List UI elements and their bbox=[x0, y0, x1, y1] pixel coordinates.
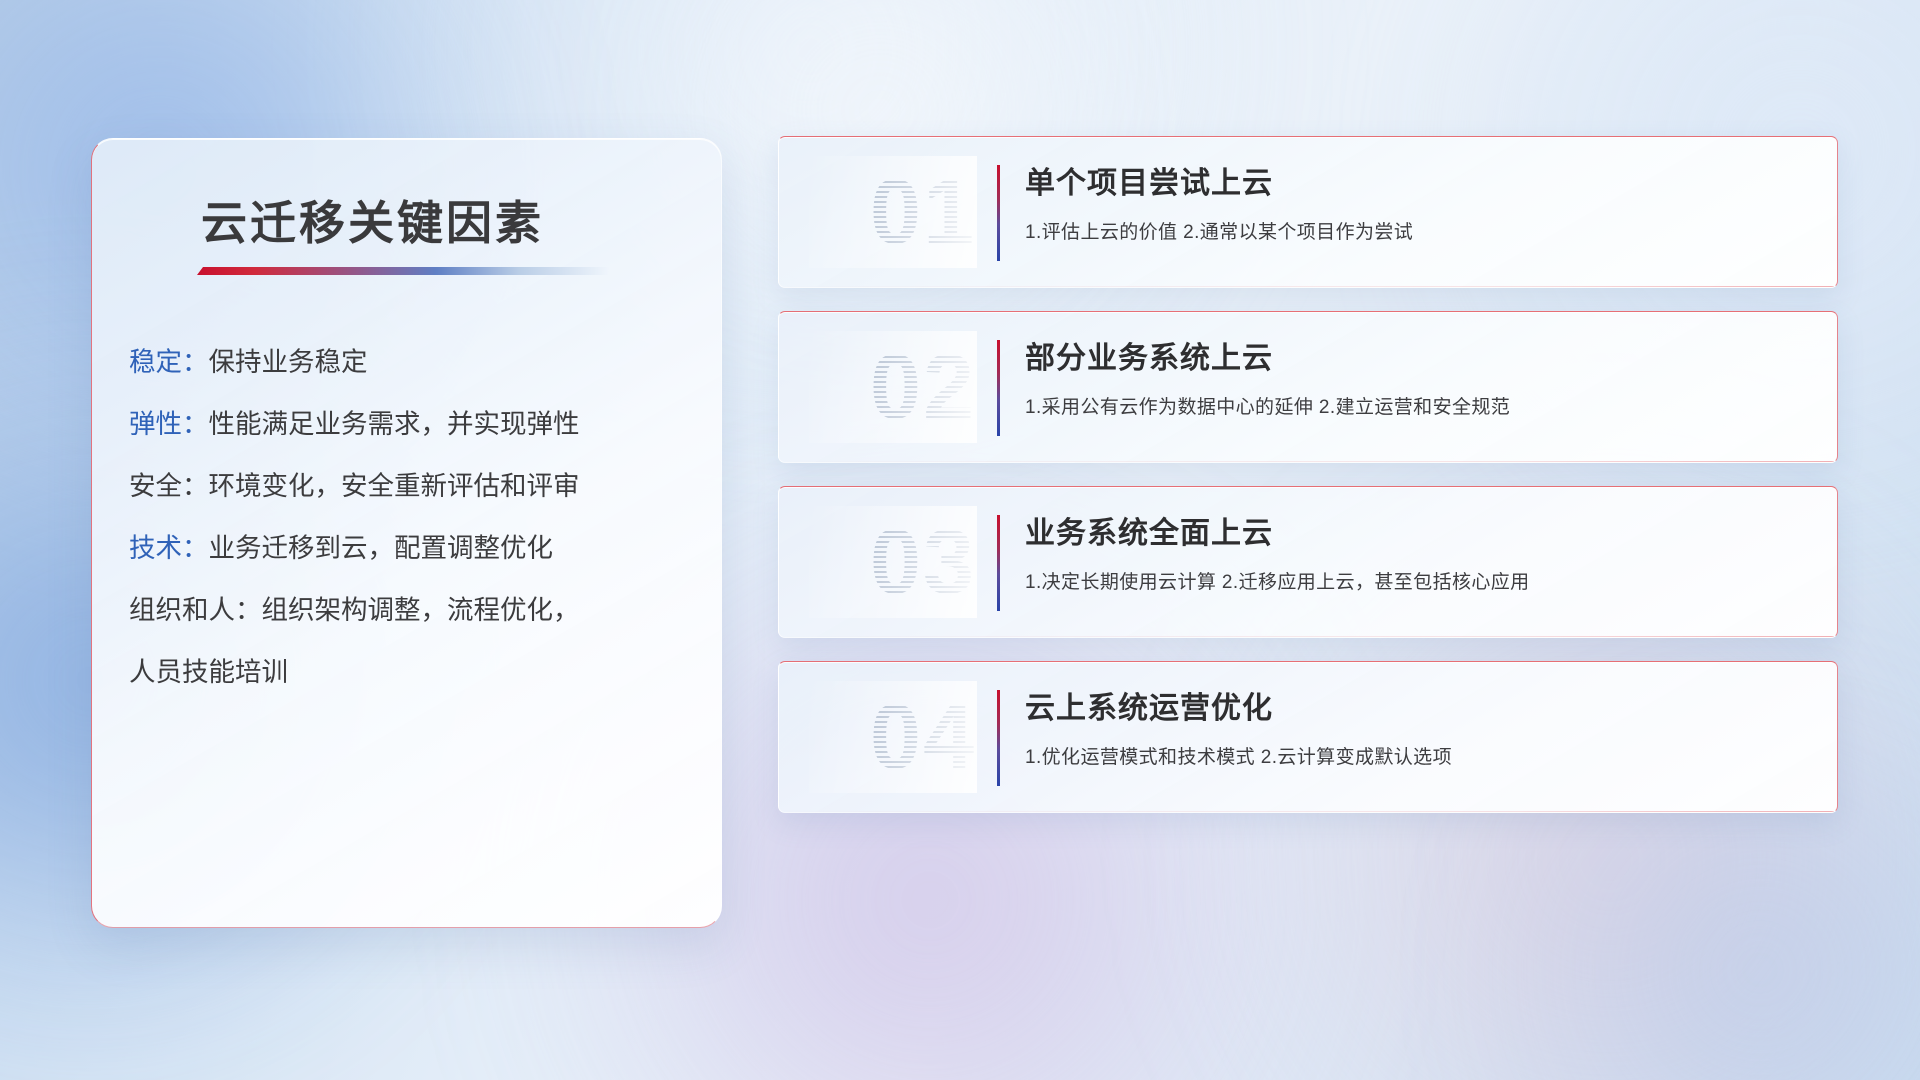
step-number: 02 bbox=[839, 331, 1007, 443]
slide-stage: 云迁移关键因素 稳定：保持业务稳定弹性：性能满足业务需求，并实现弹性安全：环境变… bbox=[0, 0, 1920, 1080]
step-number-watermark: 01 bbox=[809, 156, 977, 268]
migration-steps-list: 01单个项目尝试上云1.评估上云的价值 2.通常以某个项目作为尝试02部分业务系… bbox=[778, 136, 1838, 836]
step-description: 1.评估上云的价值 2.通常以某个项目作为尝试 bbox=[1025, 217, 1811, 244]
step-number: 03 bbox=[839, 506, 1007, 618]
step-divider-accent bbox=[997, 515, 1000, 611]
step-number-watermark: 02 bbox=[809, 331, 977, 443]
factor-label: 安全： bbox=[129, 473, 209, 500]
step-title: 单个项目尝试上云 bbox=[1025, 165, 1811, 203]
step-divider-accent bbox=[997, 340, 1000, 436]
factor-label: 弹性： bbox=[129, 411, 209, 438]
step-card[interactable]: 03业务系统全面上云1.决定长期使用云计算 2.迁移应用上云，甚至包括核心应用 bbox=[778, 486, 1838, 638]
factor-text: 环境变化，安全重新评估和评审 bbox=[209, 473, 580, 500]
factor-label: 稳定： bbox=[129, 349, 209, 376]
step-body: 业务系统全面上云1.决定长期使用云计算 2.迁移应用上云，甚至包括核心应用 bbox=[1025, 515, 1811, 594]
factor-label: 技术： bbox=[129, 535, 209, 562]
step-description: 1.决定长期使用云计算 2.迁移应用上云，甚至包括核心应用 bbox=[1025, 567, 1811, 594]
factor-list: 稳定：保持业务稳定弹性：性能满足业务需求，并实现弹性安全：环境变化，安全重新评估… bbox=[129, 331, 701, 703]
step-description: 1.采用公有云作为数据中心的延伸 2.建立运营和安全规范 bbox=[1025, 392, 1811, 419]
factor-row: 人员技能培训 bbox=[129, 641, 701, 703]
factor-text: 性能满足业务需求，并实现弹性 bbox=[209, 411, 580, 438]
factor-row: 技术：业务迁移到云，配置调整优化 bbox=[129, 517, 701, 579]
title-underline-accent bbox=[197, 267, 609, 275]
step-divider-accent bbox=[997, 690, 1000, 786]
step-title: 部分业务系统上云 bbox=[1025, 340, 1811, 378]
step-number: 04 bbox=[839, 681, 1007, 793]
step-card[interactable]: 04云上系统运营优化1.优化运营模式和技术模式 2.云计算变成默认选项 bbox=[778, 661, 1838, 813]
step-title: 业务系统全面上云 bbox=[1025, 515, 1811, 553]
step-divider-accent bbox=[997, 165, 1000, 261]
factor-text: 人员技能培训 bbox=[129, 659, 288, 686]
step-body: 单个项目尝试上云1.评估上云的价值 2.通常以某个项目作为尝试 bbox=[1025, 165, 1811, 244]
page-title: 云迁移关键因素 bbox=[201, 187, 544, 253]
step-number-watermark: 04 bbox=[809, 681, 977, 793]
step-number-watermark: 03 bbox=[809, 506, 977, 618]
factor-label: 组织和人： bbox=[129, 597, 262, 624]
step-number: 01 bbox=[839, 156, 1007, 268]
step-description: 1.优化运营模式和技术模式 2.云计算变成默认选项 bbox=[1025, 742, 1811, 769]
factor-text: 保持业务稳定 bbox=[209, 349, 368, 376]
factor-row: 组织和人：组织架构调整，流程优化， bbox=[129, 579, 701, 641]
factor-row: 安全：环境变化，安全重新评估和评审 bbox=[129, 455, 701, 517]
factor-row: 弹性：性能满足业务需求，并实现弹性 bbox=[129, 393, 701, 455]
key-factors-panel: 云迁移关键因素 稳定：保持业务稳定弹性：性能满足业务需求，并实现弹性安全：环境变… bbox=[91, 138, 722, 928]
step-title: 云上系统运营优化 bbox=[1025, 690, 1811, 728]
step-body: 部分业务系统上云1.采用公有云作为数据中心的延伸 2.建立运营和安全规范 bbox=[1025, 340, 1811, 419]
factor-row: 稳定：保持业务稳定 bbox=[129, 331, 701, 393]
step-body: 云上系统运营优化1.优化运营模式和技术模式 2.云计算变成默认选项 bbox=[1025, 690, 1811, 769]
step-card[interactable]: 02部分业务系统上云1.采用公有云作为数据中心的延伸 2.建立运营和安全规范 bbox=[778, 311, 1838, 463]
factor-text: 业务迁移到云，配置调整优化 bbox=[209, 535, 554, 562]
step-card[interactable]: 01单个项目尝试上云1.评估上云的价值 2.通常以某个项目作为尝试 bbox=[778, 136, 1838, 288]
factor-text: 组织架构调整，流程优化， bbox=[262, 597, 580, 624]
